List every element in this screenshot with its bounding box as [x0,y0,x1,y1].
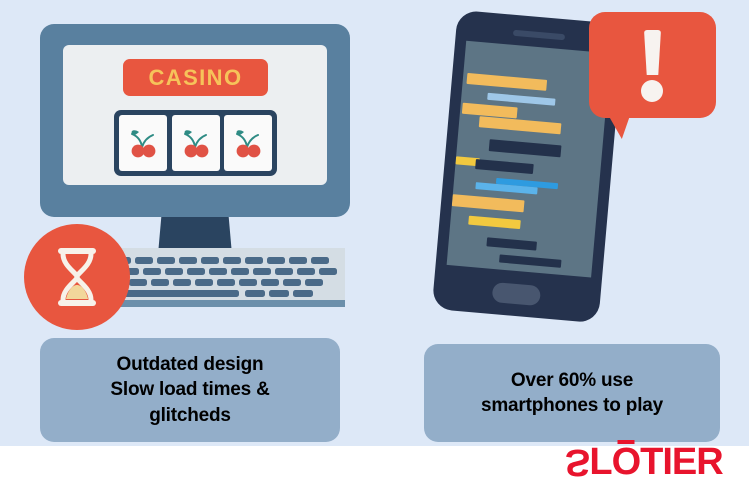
code-bar [462,103,518,119]
keyboard-key [239,279,257,286]
code-bar [452,194,525,212]
exclamation-dot [641,80,663,102]
keyboard-key [289,257,307,264]
keyboard-key [143,268,161,275]
keyboard-key [201,257,219,264]
keyboard-key [187,268,205,275]
code-bar [499,254,561,267]
keyboard-key [275,268,293,275]
keyboard-key [231,268,249,275]
caption-pill-left: Outdated design Slow load times & glitch… [40,338,340,442]
logo-letter-o-glyph: O [612,441,641,481]
code-bar [479,116,562,134]
keyboard-key [253,268,271,275]
keyboard-key [245,257,263,264]
cherries-icon [233,127,263,159]
slot-machine-reels [114,110,277,176]
code-bar [468,216,521,229]
brand-logo-text: SLOTIER [565,443,723,481]
alert-bubble [589,12,716,124]
code-bar [475,159,534,174]
caption-pill-right: Over 60% use smartphones to play [424,344,720,442]
keyboard-key [305,279,323,286]
slot-reel [224,115,272,171]
phone-home-button [492,282,542,306]
keyboard-key [195,279,213,286]
keyboard-key [217,279,235,286]
slot-reel [119,115,167,171]
monitor-bezel: CASINO [40,24,350,217]
keyboard-key [319,268,337,275]
cherries-icon [128,127,158,159]
desktop-monitor-illustration: CASINO [40,24,350,229]
bubble-box [589,12,716,118]
keyboard-key [283,279,301,286]
keyboard-key [267,257,285,264]
keyboard-key [293,290,313,297]
logo-letter-s: S [565,443,589,481]
keyboard-key [223,257,241,264]
keyboard-key [129,279,147,286]
brand-logo[interactable]: SLOTIER [565,443,749,481]
hourglass-icon [51,246,103,308]
keyboard-key [297,268,315,275]
keyboard-key [209,268,227,275]
logo-rest: TIER [640,441,723,481]
keyboard-key [245,290,265,297]
code-bar [466,73,547,91]
slot-reel [172,115,220,171]
exclamation-icon [644,30,661,75]
keyboard-key [151,279,169,286]
keyboard-key [135,257,153,264]
logo-letter-o: O [612,443,641,481]
logo-letter-l: L [589,441,611,481]
monitor-screen: CASINO [63,45,327,185]
keyboard-key [261,279,279,286]
code-bar [487,93,555,106]
caption-right-text: Over 60% use smartphones to play [481,368,663,418]
casino-sign-label: CASINO [149,65,243,91]
phone-screen [447,41,611,278]
phone-speaker-slot [513,30,565,41]
cherries-icon [181,127,211,159]
keyboard-key [157,257,175,264]
infographic-canvas: CASINO [0,0,749,481]
keyboard-key [269,290,289,297]
casino-sign: CASINO [123,59,268,96]
keyboard-key [179,257,197,264]
hourglass-badge [24,224,130,330]
keyboard-key [165,268,183,275]
keyboard-key [311,257,329,264]
caption-left-text: Outdated design Slow load times & glitch… [110,352,269,427]
logo-macron [617,440,634,444]
keyboard-key [173,279,191,286]
code-bar [489,139,562,157]
code-bar [486,237,537,250]
